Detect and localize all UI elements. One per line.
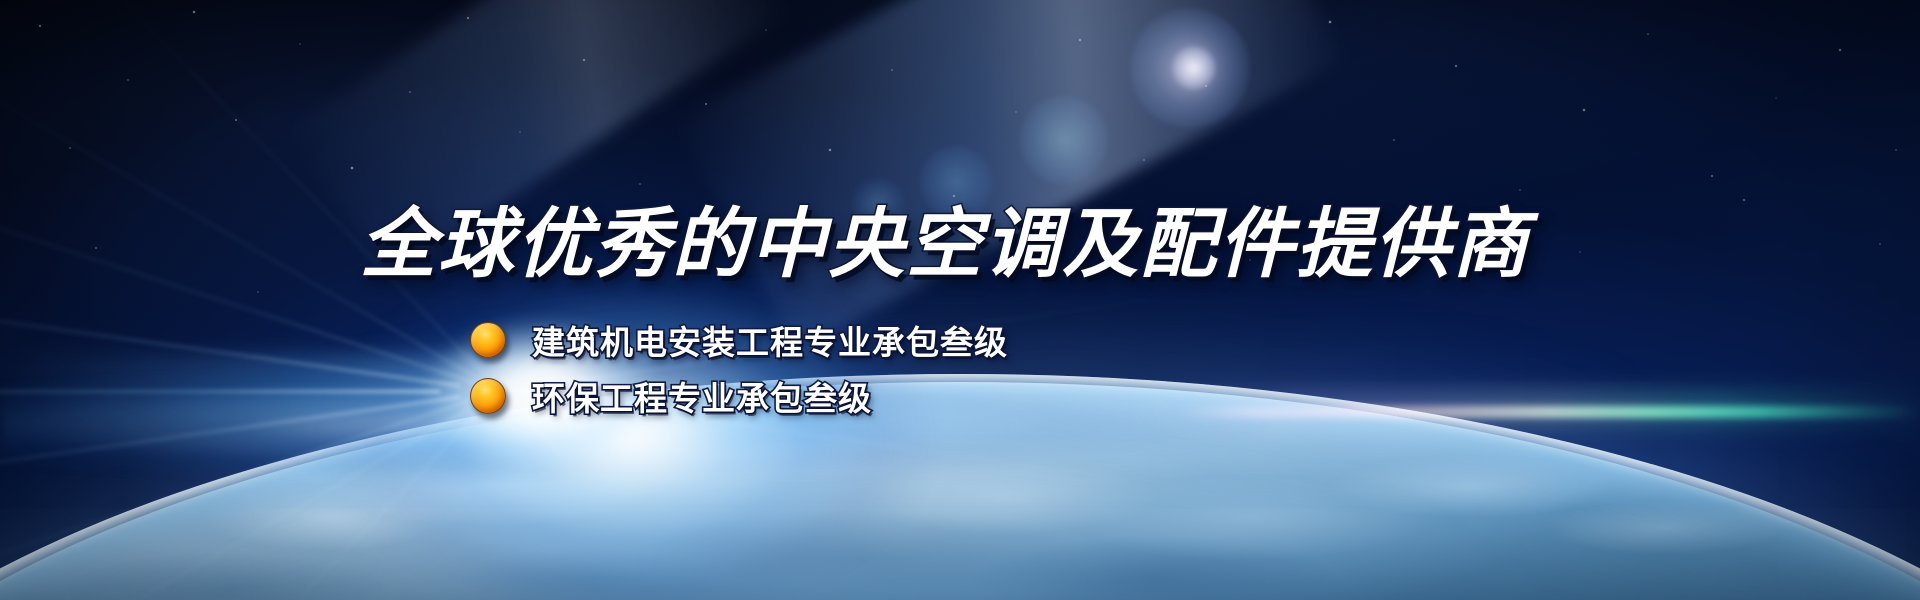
bullet-item-label: 建筑机电安装工程专业承包叁级 [532, 316, 1008, 364]
banner-content: 全球优秀的中央空调及配件提供商 建筑机电安装工程专业承包叁级 环保工程专业承包叁… [0, 0, 1920, 600]
orange-sphere-bullet-icon [470, 322, 506, 358]
bullet-item: 建筑机电安装工程专业承包叁级 [470, 312, 1008, 368]
bullet-item-label: 环保工程专业承包叁级 [532, 372, 872, 420]
hero-banner: 全球优秀的中央空调及配件提供商 建筑机电安装工程专业承包叁级 环保工程专业承包叁… [0, 0, 1920, 600]
orange-sphere-bullet-icon [470, 378, 506, 414]
banner-bullet-list: 建筑机电安装工程专业承包叁级 环保工程专业承包叁级 [470, 312, 1008, 424]
banner-headline: 全球优秀的中央空调及配件提供商 [360, 207, 1600, 283]
bullet-item: 环保工程专业承包叁级 [470, 368, 1008, 424]
